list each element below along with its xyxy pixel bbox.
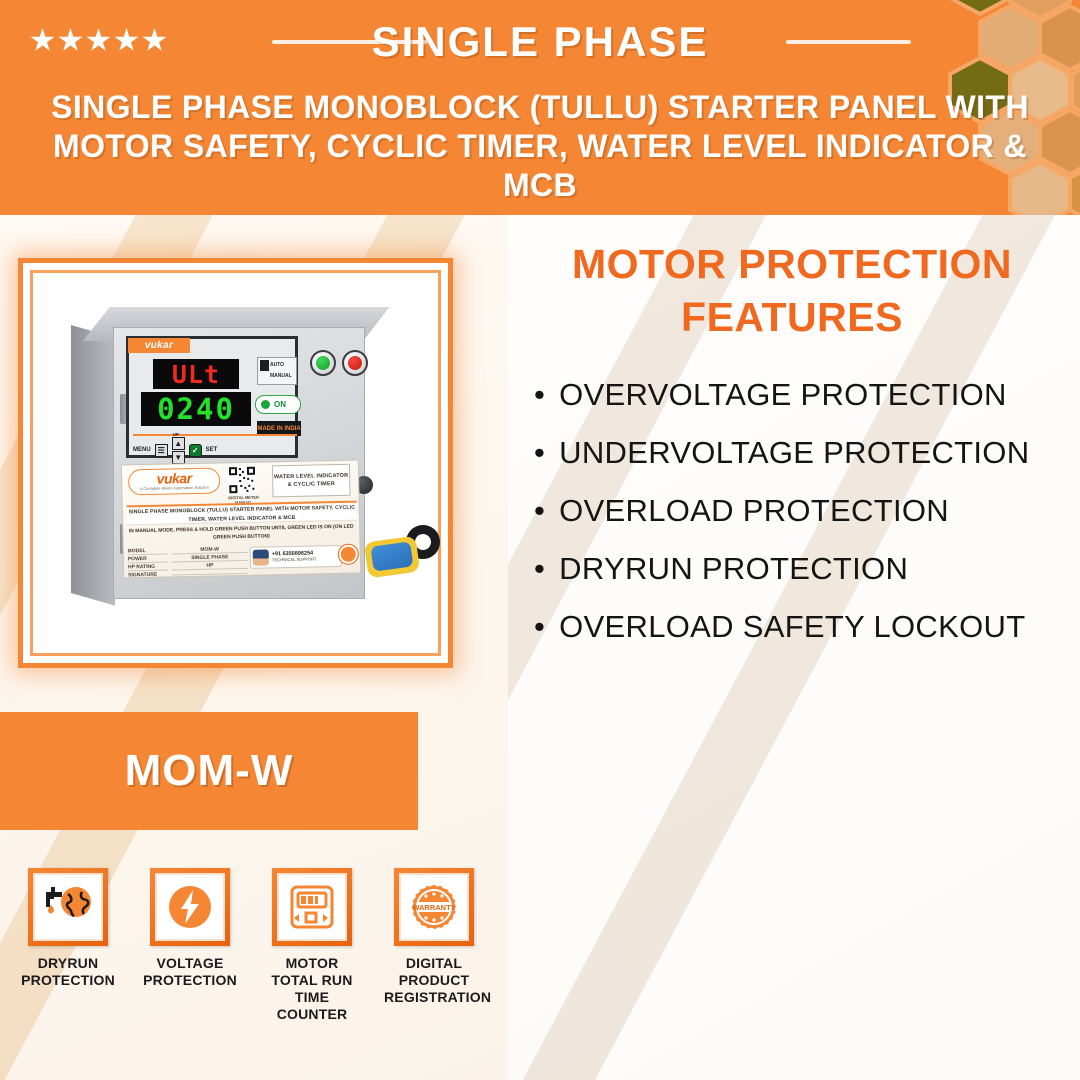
- switch-option-auto: AUTO: [270, 360, 294, 371]
- up-button[interactable]: ▲: [172, 437, 185, 450]
- float-switch-accessory: [366, 523, 442, 579]
- down-button[interactable]: ▼: [172, 451, 185, 464]
- features-list: • OVERVOLTAGE PROTECTION • UNDERVOLTAGE …: [534, 372, 1074, 662]
- feature-icons-row: DRYRUN PROTECTION VOLTAGE PROTECTION: [18, 868, 498, 1023]
- warranty-seal-icon: [339, 545, 358, 564]
- sticker-brand: vukar: [157, 472, 192, 486]
- support-label: TECHNICAL SUPPORT: [272, 556, 317, 562]
- red-button-cap-icon: [348, 356, 362, 370]
- feature-icon-runtime: MOTOR TOTAL RUN TIME COUNTER: [262, 868, 362, 1023]
- on-indicator: ON: [255, 395, 301, 414]
- run-time-counter-icon: [286, 882, 338, 932]
- sticker-note: IN MANUAL MODE, PRESS & HOLD GREEN PUSH …: [125, 523, 357, 546]
- icon-inner: WARRANTY: [399, 873, 469, 941]
- set-label: SET: [206, 447, 218, 453]
- list-item: • OVERLOAD SAFETY LOCKOUT: [534, 604, 1074, 649]
- bullet-icon: •: [534, 430, 545, 475]
- feature-icon-caption: MOTOR TOTAL RUN TIME COUNTER: [262, 955, 362, 1023]
- auto-manual-switch[interactable]: AUTO MANUAL: [257, 357, 297, 385]
- icon-inner: [155, 873, 225, 941]
- features-title-line2: FEATURES: [512, 291, 1072, 344]
- meter-brand-label: vukar: [128, 338, 190, 353]
- enclosure-front-face: vukar ULt 0240 AUTO MANUAL ON MADE IN IN…: [113, 327, 365, 599]
- menu-button[interactable]: ☰: [155, 444, 168, 457]
- qr-code-icon[interactable]: [228, 466, 257, 495]
- spec-key: MODEL: [128, 547, 168, 555]
- icon-frame: WARRANTY: [394, 868, 474, 946]
- green-button-cap-icon: [316, 356, 330, 370]
- header-banner: SINGLE PHASE SINGLE PHASE MONOBLOCK (TUL…: [0, 0, 1080, 215]
- enclosure-side: [71, 325, 115, 606]
- feature-icon-caption: VOLTAGE PROTECTION: [140, 955, 240, 989]
- icon-inner: [277, 873, 347, 941]
- feature-icon-registration: WARRANTY DIGITAL PRODUCT REGISTRATION: [384, 868, 484, 1023]
- product-image-inner-border: vukar ULt 0240 AUTO MANUAL ON MADE IN IN…: [30, 270, 441, 656]
- icon-inner: [33, 873, 103, 941]
- list-item: • OVERLOAD PROTECTION: [534, 488, 1074, 533]
- feature-text: DRYRUN PROTECTION: [559, 546, 908, 591]
- green-push-button[interactable]: [310, 350, 336, 376]
- product-spec-sticker: vukar A Complete Water Automation Soluti…: [121, 460, 361, 579]
- on-led-icon: [261, 400, 270, 409]
- support-agent-avatar: [253, 549, 269, 565]
- menu-label: MENU: [133, 447, 151, 453]
- up-label: UP: [173, 432, 179, 437]
- control-panel-product: vukar ULt 0240 AUTO MANUAL ON MADE IN IN…: [71, 301, 401, 611]
- icon-frame: [28, 868, 108, 946]
- set-button[interactable]: ✓: [189, 444, 202, 457]
- meter-control-row: MENU ☰ UP ▲ ▼ DOWN ✓ SET: [133, 440, 301, 460]
- water-level-badge: WATER LEVEL INDICATOR & CYCLIC TIMER: [272, 464, 351, 498]
- water-tap-globe-icon: [42, 884, 94, 930]
- warranty-badge-icon: WARRANTY: [408, 882, 460, 932]
- bullet-icon: •: [534, 488, 545, 533]
- sticker-logo: vukar A Complete Water Automation Soluti…: [128, 467, 221, 495]
- list-item: • DRYRUN PROTECTION: [534, 546, 1074, 591]
- list-item: • OVERVOLTAGE PROTECTION: [534, 372, 1074, 417]
- meter-top-display: ULt: [153, 359, 239, 389]
- spec-value: [172, 572, 248, 575]
- feature-icon-caption: DIGITAL PRODUCT REGISTRATION: [384, 955, 484, 1006]
- support-contact: +91 6350896254 TECHNICAL SUPPORT: [250, 545, 342, 569]
- bullet-icon: •: [534, 604, 545, 649]
- spec-key: POWER: [128, 555, 168, 563]
- spec-key: HP RATING: [128, 563, 168, 571]
- sticker-tagline: A Complete Water Automation Solution: [140, 485, 209, 491]
- spec-key: SIGNATURE: [128, 571, 168, 578]
- svg-text:WARRANTY: WARRANTY: [412, 903, 455, 912]
- float-switch-face-icon: [370, 541, 413, 571]
- icon-frame: [272, 868, 352, 946]
- model-name-banner: MOM-W: [0, 712, 418, 830]
- on-indicator-label: ON: [274, 400, 286, 409]
- red-push-button[interactable]: [342, 350, 368, 376]
- features-title-line1: MOTOR PROTECTION: [512, 238, 1072, 291]
- model-name: MOM-W: [125, 746, 294, 796]
- digital-meter: vukar ULt 0240 AUTO MANUAL ON MADE IN IN…: [126, 336, 298, 458]
- sticker-spec-table: MODELMOM-W POWERSINGLE PHASE HP RATINGHP…: [128, 545, 249, 579]
- feature-text: OVERLOAD SAFETY LOCKOUT: [559, 604, 1025, 649]
- lightning-bolt-icon: [165, 882, 215, 932]
- switch-option-manual: MANUAL: [270, 371, 294, 382]
- header-subtitle: SINGLE PHASE MONOBLOCK (TULLU) STARTER P…: [20, 88, 1060, 205]
- meter-divider: [133, 434, 297, 436]
- header-title: SINGLE PHASE: [0, 18, 1080, 66]
- bullet-icon: •: [534, 372, 545, 417]
- float-switch-body: [364, 536, 421, 579]
- sticker-headline: SINGLE PHASE MONOBLOCK (TULLU) STARTER P…: [127, 501, 357, 526]
- bullet-icon: •: [534, 546, 545, 591]
- feature-icon-voltage: VOLTAGE PROTECTION: [140, 868, 240, 1023]
- product-image-frame: vukar ULt 0240 AUTO MANUAL ON MADE IN IN…: [18, 258, 453, 668]
- switch-knob-icon: [260, 360, 269, 371]
- list-item: • UNDERVOLTAGE PROTECTION: [534, 430, 1074, 475]
- feature-text: UNDERVOLTAGE PROTECTION: [559, 430, 1029, 475]
- up-down-buttons: UP ▲ ▼ DOWN: [172, 437, 185, 464]
- feature-icon-caption: DRYRUN PROTECTION: [18, 955, 118, 989]
- features-title: MOTOR PROTECTION FEATURES: [512, 238, 1072, 344]
- feature-icon-dryrun: DRYRUN PROTECTION: [18, 868, 118, 1023]
- feature-text: OVERVOLTAGE PROTECTION: [559, 372, 1007, 417]
- meter-bottom-display: 0240: [141, 392, 251, 426]
- feature-text: OVERLOAD PROTECTION: [559, 488, 949, 533]
- icon-frame: [150, 868, 230, 946]
